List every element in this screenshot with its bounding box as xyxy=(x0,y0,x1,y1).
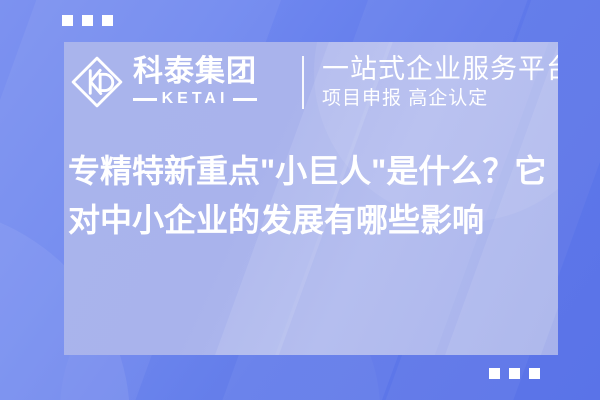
header-divider xyxy=(302,56,304,109)
tagline-sub: 项目申报 高企认定 xyxy=(322,89,558,108)
page-title-line-2: 对中小企业的发展有哪些影响 xyxy=(68,196,558,245)
ketai-kd-monogram-icon xyxy=(70,55,124,109)
tagline-block: 一站式企业服务平台 项目申报 高企认定 xyxy=(322,56,558,108)
brand-name-en-row: KETAI xyxy=(133,91,257,107)
page-title: 专精特新重点"小巨人"是什么？它 对中小企业的发展有哪些影响 xyxy=(68,147,558,245)
brand-wordmark: 科泰集团 KETAI xyxy=(133,57,257,107)
article-cover-banner: 科泰集团 KETAI 一站式企业服务平台 项目申报 高企认定 专精特新重点"小巨… xyxy=(0,0,600,400)
square-dot-icon xyxy=(529,368,540,379)
decorative-dots-top-left xyxy=(62,15,113,26)
card-header: 科泰集团 KETAI 一站式企业服务平台 项目申报 高企认定 xyxy=(64,42,558,122)
tagline-main: 一站式企业服务平台 xyxy=(322,56,558,83)
page-title-line-1: 专精特新重点"小巨人"是什么？它 xyxy=(68,147,558,196)
square-dot-icon xyxy=(62,15,73,26)
square-dot-icon xyxy=(509,368,520,379)
brand-lockup: 科泰集团 KETAI xyxy=(70,55,298,109)
decorative-dots-bottom-right xyxy=(489,368,540,379)
square-dot-icon xyxy=(102,15,113,26)
square-dot-icon xyxy=(489,368,500,379)
wordmark-rule-left xyxy=(133,98,157,101)
brand-name-cn: 科泰集团 xyxy=(133,57,257,87)
brand-name-en: KETAI xyxy=(162,91,229,107)
wordmark-rule-right xyxy=(233,98,257,101)
content-card: 科泰集团 KETAI 一站式企业服务平台 项目申报 高企认定 专精特新重点"小巨… xyxy=(64,42,558,355)
square-dot-icon xyxy=(82,15,93,26)
